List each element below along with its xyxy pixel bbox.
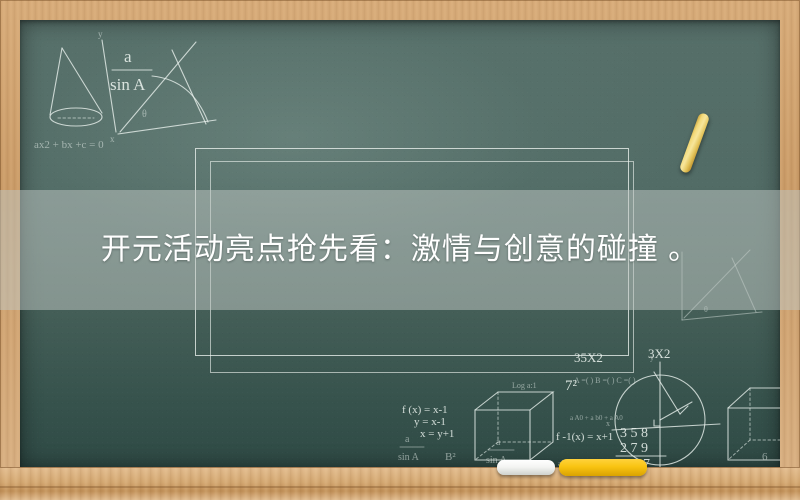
multiply-expr-1: 35X2	[574, 350, 603, 365]
white-chalk-stick	[497, 460, 555, 475]
sine-rule-bottom-left: a sin A	[398, 434, 424, 463]
svg-text:a: a	[405, 434, 410, 445]
svg-text:f (x) = x-1: f (x) = x-1	[402, 404, 448, 416]
svg-text:x: x	[606, 419, 610, 428]
svg-text:A =( ) B =( ) C =( ): A =( ) B =( ) C =( )	[574, 376, 636, 385]
svg-text:x = y+1: x = y+1	[420, 428, 454, 440]
circle-axes-diagram: y x	[606, 353, 720, 468]
svg-text:f -1(x) = x+1: f -1(x) = x+1	[556, 431, 613, 443]
quadratic-equation: ax2 + bx +c = 0	[34, 139, 104, 151]
svg-text:y: y	[650, 353, 654, 362]
seven-squared: 7²	[565, 378, 578, 394]
log-label: Log a:1	[512, 381, 537, 390]
cube-diagram-center	[475, 392, 553, 460]
svg-text:sin A: sin A	[398, 452, 420, 463]
angle-diagram-right: θ	[682, 250, 762, 320]
svg-text:y = x-1: y = x-1	[414, 416, 446, 428]
yellow-chalk-stick-board	[679, 112, 711, 174]
decorative-frame-inner	[210, 161, 634, 373]
angle-axes-diagram: y x θ	[98, 29, 216, 144]
chalkboard-surface: a sin A ax2 + bx +c = 0 y x θ f (x) = x-…	[20, 20, 780, 468]
identity-expr: a A0 + a b0 + a A0	[570, 414, 623, 422]
sine-rule-formula: a sin A	[110, 47, 152, 94]
trailing-digit: 6	[762, 451, 768, 463]
b-squared: B²	[445, 451, 456, 463]
svg-text:θ: θ	[704, 305, 708, 314]
decorative-frame-outer	[195, 148, 629, 356]
blackboard-banner: a sin A ax2 + bx +c = 0 y x θ f (x) = x-…	[0, 0, 800, 500]
svg-text:y: y	[98, 29, 103, 39]
yellow-chalk-stick-tray	[559, 459, 647, 476]
multiply-expr-2: 3X2	[648, 346, 670, 361]
matrix-expressions: A =( ) B =( ) C =( )	[574, 376, 636, 385]
svg-text:sin A: sin A	[110, 75, 146, 94]
svg-text:3 5 8: 3 5 8	[620, 426, 648, 441]
svg-text:a: a	[124, 47, 132, 66]
svg-text:2 7 9: 2 7 9	[620, 441, 648, 456]
svg-text:θ: θ	[142, 109, 147, 120]
chalk-artwork: a sin A ax2 + bx +c = 0 y x θ f (x) = x-…	[20, 20, 780, 468]
chalk-ledge	[0, 467, 800, 500]
svg-text:x: x	[110, 134, 115, 144]
board-texture	[20, 20, 780, 468]
function-equations: f (x) = x-1 y = x-1 x = y+1	[402, 404, 454, 440]
cone-diagram	[50, 48, 102, 126]
svg-text:a: a	[496, 437, 501, 448]
cube-diagram-right	[728, 388, 780, 460]
